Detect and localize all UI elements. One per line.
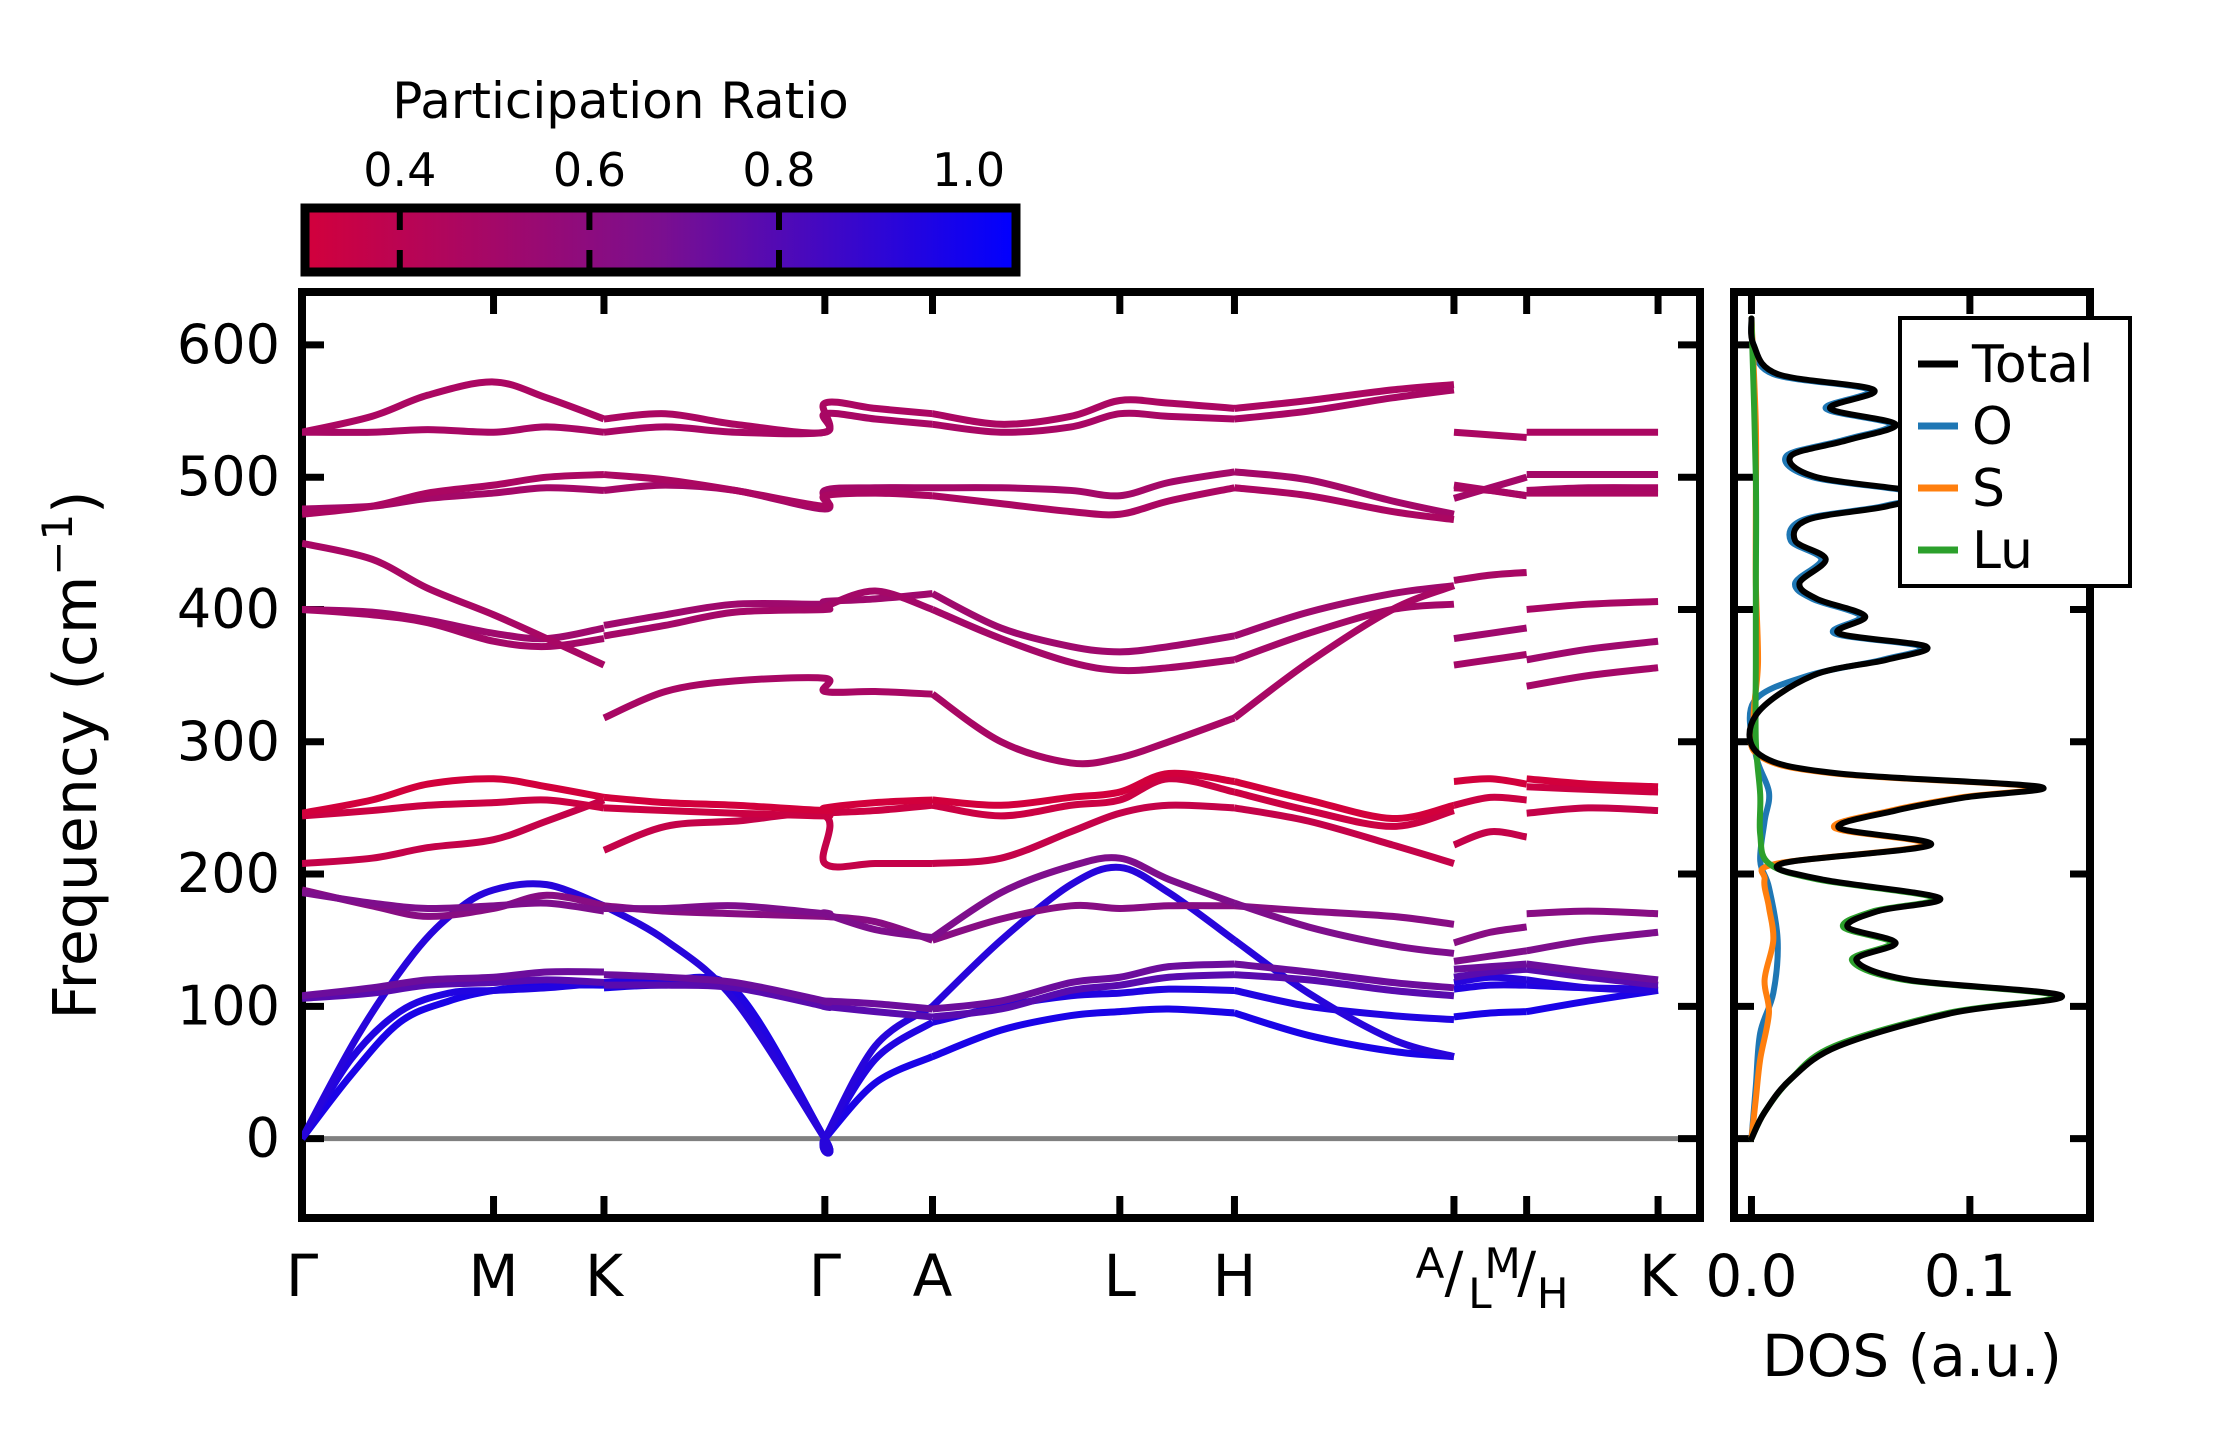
colorbar-tick-label: 0.8 xyxy=(742,143,815,197)
x-tick-label-sup: M xyxy=(1485,1239,1521,1288)
x-tick-label: H xyxy=(1213,1242,1257,1310)
colorbar-tick-label: 0.6 xyxy=(553,143,626,197)
x-tick-label-main: / xyxy=(1517,1241,1536,1306)
y-axis-label-text: Frequency (cm−1) xyxy=(33,490,112,1019)
x-tick-label-main: H xyxy=(1213,1242,1257,1310)
colorbar-tick-label: 1.0 xyxy=(932,143,1005,197)
y-axis-label: Frequency (cm−1) xyxy=(33,490,112,1019)
band-curve xyxy=(1527,488,1658,491)
x-tick-label: Γ xyxy=(809,1242,841,1310)
x-tick-label-sub: H xyxy=(1537,1269,1569,1318)
x-tick-label: K xyxy=(1639,1242,1679,1310)
y-tick-label: 300 xyxy=(177,710,280,773)
phonon-figure: 0.40.60.81.0Participation Ratio010020030… xyxy=(0,0,2222,1455)
colorbar-title: Participation Ratio xyxy=(392,72,848,130)
x-tick-label-main: / xyxy=(1445,1241,1464,1306)
x-tick-label-main: A xyxy=(913,1242,953,1310)
x-tick-label: M xyxy=(469,1242,519,1310)
x-tick-label: M/H xyxy=(1485,1239,1569,1318)
y-tick-label: 600 xyxy=(177,313,280,376)
colorbar-tick-label: 0.4 xyxy=(363,143,436,197)
legend-label: O xyxy=(1972,397,2013,457)
x-tick-label-main: K xyxy=(1639,1242,1679,1310)
dos-x-tick-label: 0.1 xyxy=(1924,1242,2016,1310)
x-tick-label-sup: A xyxy=(1416,1239,1445,1288)
colorbar-gradient xyxy=(305,208,1016,272)
x-tick-label-main: Γ xyxy=(809,1242,841,1310)
legend-label: Total xyxy=(1971,335,2093,395)
y-tick-label: 500 xyxy=(177,445,280,508)
x-tick-label: Γ xyxy=(286,1242,318,1310)
y-axis-label-exponent: −1 xyxy=(33,514,82,576)
x-tick-label-main: K xyxy=(585,1242,625,1310)
band-curve xyxy=(1454,985,1527,989)
figure-root: 0.40.60.81.0Participation Ratio010020030… xyxy=(0,0,2222,1455)
legend-label: Lu xyxy=(1972,521,2033,581)
x-tick-label: A xyxy=(913,1242,953,1310)
x-tick-label: A/L xyxy=(1416,1239,1493,1318)
x-tick-label-main: L xyxy=(1104,1242,1136,1310)
y-tick-label: 0 xyxy=(246,1107,280,1170)
x-tick-label: K xyxy=(585,1242,625,1310)
dos-x-tick-label: 0.0 xyxy=(1705,1242,1797,1310)
x-tick-label-main: Γ xyxy=(286,1242,318,1310)
y-tick-label: 200 xyxy=(177,842,280,905)
dos-legend: TotalOSLu xyxy=(1900,318,2130,586)
dos-x-axis-label: DOS (a.u.) xyxy=(1762,1322,2062,1390)
colorbar: 0.40.60.81.0Participation Ratio xyxy=(305,72,1016,272)
x-tick-label-main: M xyxy=(469,1242,519,1310)
band-curve xyxy=(1527,911,1658,914)
y-tick-label: 100 xyxy=(177,974,280,1037)
y-tick-label: 400 xyxy=(177,577,280,640)
legend-label: S xyxy=(1972,459,2005,519)
x-tick-label: L xyxy=(1104,1242,1136,1310)
y-axis-label-paren: ) xyxy=(41,490,111,513)
